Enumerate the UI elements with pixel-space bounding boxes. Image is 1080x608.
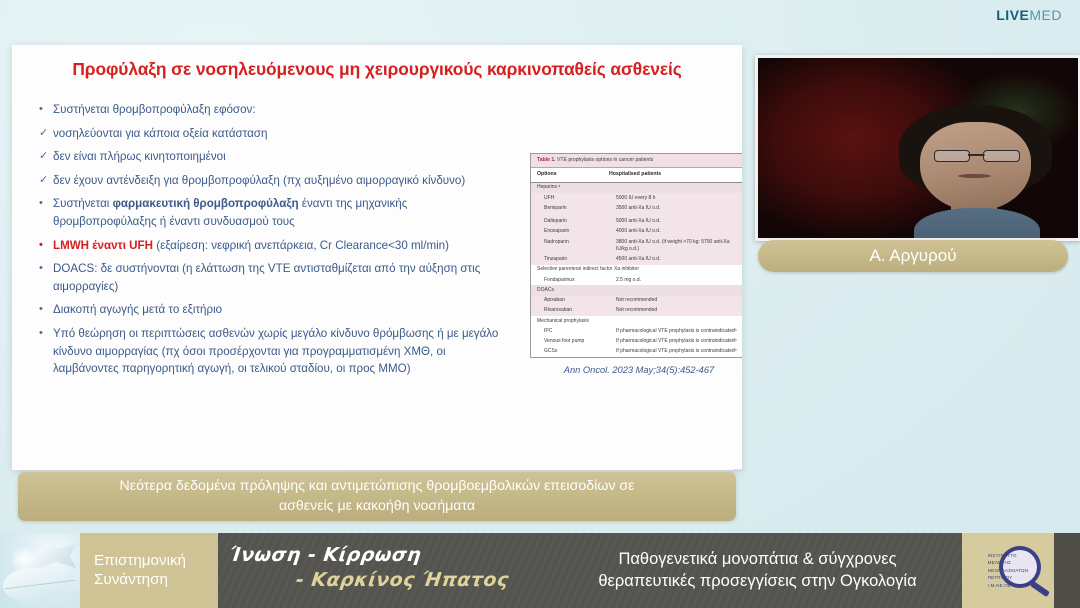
list-item-text: Συστήνεται φαρμακευτική θρομβοπροφύλαξη … (53, 195, 504, 230)
speaker-figure (899, 105, 1053, 241)
table-row: Bemiparin3500 anti-Xa IU o.d. (531, 203, 742, 213)
list-item-text: LMWH έναντι UFH (εξαίρεση: νεφρική ανεπά… (53, 237, 504, 255)
event-subject-line-1: Παθογενετικά μονοπάτια & σύγχρονες (618, 549, 896, 570)
imnepe-line-3: ΝΕΟΠΛΑΣΜΑΤΩΝ (988, 567, 1029, 575)
table-row: ApixabanNot recommended (531, 296, 742, 306)
table-cell-option: Dalteparin (537, 218, 616, 225)
table-section-row: DOACs (531, 285, 742, 295)
slide-bullet-list: • Συστήνεται θρομβοπροφύλαξη εφόσον: ✓ ν… (39, 101, 504, 384)
bullet-marker-icon: • (39, 301, 53, 319)
lecture-title-plate: Νεότερα δεδομένα πρόληψης και αντιμετώπι… (18, 472, 736, 521)
vte-prophylaxis-table-figure: Table 1. VTE prophylaxis options in canc… (530, 153, 742, 375)
imnepe-line-4: ΠΕΠΤΙΚΟΥ (988, 574, 1029, 582)
event-subject-line-2: θεραπευτικές προσεγγίσεις στην Ογκολογία (598, 571, 916, 592)
table-row: RivaroxabanNot recommended (531, 306, 742, 316)
table-row: GCSsIf pharmacological VTE prophylaxis i… (531, 347, 742, 357)
event-banner: Επιστημονική Συνάντηση Ίνωση - Κίρρωση -… (0, 533, 1080, 608)
livemed-logo: LIVEMED (996, 7, 1062, 23)
table-row: Enoxaparin4000 anti-Xa IU o.d. (531, 227, 742, 237)
event-type-label: Επιστημονική Συνάντηση (80, 533, 218, 608)
table-cell-value: Not recommended (616, 307, 741, 314)
bullet-marker-icon: • (39, 237, 53, 255)
imnepe-logo-text: ΙΝΣΤΙΤΟΥΤΟ ΜΕΛΕΤΗΣ ΝΕΟΠΛΑΣΜΑΤΩΝ ΠΕΠΤΙΚΟΥ… (988, 552, 1029, 590)
table-caption-text: VTE prophylaxis options in cancer patien… (557, 157, 653, 163)
list-item: ✓ δεν είναι πλήρως κινητοποιημένοι (39, 148, 504, 166)
table-section-row: Heparins ᵃ (531, 183, 742, 193)
list-item-text: Διακοπή αγωγής μετά το εξιτήριο (53, 301, 504, 319)
table-cell-option: Tinzaparin (537, 256, 616, 263)
torso-shape (914, 208, 1040, 241)
event-type-line-1: Επιστημονική (94, 552, 218, 571)
table-cell-option: Fondaparinux (537, 277, 616, 284)
list-item: • Υπό θεώρηση οι περιπτώσεις ασθενών χωρ… (39, 325, 504, 378)
magnifier-handle-icon (1030, 581, 1050, 597)
list-item-text: Συστήνεται θρομβοπροφύλαξη εφόσον: (53, 101, 504, 119)
emphasis-text: LMWH έναντι UFH (53, 239, 153, 252)
table-row: Nadroparin3800 anti-Xa IU o.d. (if weigh… (531, 237, 742, 255)
speaker-video-tile[interactable] (755, 55, 1080, 241)
list-item-text: Υπό θεώρηση οι περιπτώσεις ασθενών χωρίς… (53, 325, 504, 378)
handwritten-line-2: - Καρκίνος Ήπατος (295, 569, 511, 591)
check-marker-icon: ✓ (39, 172, 53, 190)
table-cell-value: 5000 anti-Xa IU o.d. (616, 218, 741, 225)
brand-med-text: MED (1029, 7, 1062, 23)
table-section-row: Selective parenteral indirect factor Xa … (531, 265, 742, 275)
column-header-options: Options (537, 171, 609, 179)
table-row: Venous foot pumpIf pharmacological VTE p… (531, 337, 742, 347)
list-item-text: δεν είναι πλήρως κινητοποιημένοι (53, 148, 504, 166)
table-caption: Table 1. VTE prophylaxis options in canc… (531, 154, 742, 168)
lecture-title-line-2: ασθενείς με κακοήθη νοσήματα (279, 497, 475, 516)
lecture-title-line-1: Νεότερα δεδομένα πρόληψης και αντιμετώπι… (120, 477, 635, 496)
table-cell-value: Not recommended (616, 297, 741, 304)
table-row: Tinzaparin4500 anti-Xa IU o.d. (531, 255, 742, 265)
table-cell-value: 4500 anti-Xa IU o.d. (616, 256, 741, 263)
list-item: ✓ δεν έχουν αντένδειξη για θρομβοπροφύλα… (39, 172, 504, 190)
table-cell-option: GCSs (537, 348, 616, 355)
list-item: • Συστήνεται φαρμακευτική θρομβοπροφύλαξ… (39, 195, 504, 230)
table-row: UFH5000 IU every 8 h (531, 193, 742, 203)
table-cell-value: If pharmacological VTE prophylaxis is co… (616, 328, 741, 335)
list-item-text: δεν έχουν αντένδειξη για θρομβοπροφύλαξη… (53, 172, 504, 190)
glasses-icon (934, 150, 1020, 161)
bullet-marker-icon: • (39, 325, 53, 378)
banner-end-cap (1054, 533, 1080, 608)
table-cell-option: Rivaroxaban (537, 307, 616, 314)
vte-prophylaxis-table: Table 1. VTE prophylaxis options in canc… (530, 153, 742, 358)
column-header-hospitalised: Hospitalised patients (609, 171, 741, 179)
imnepe-line-5: Ι.Μ.ΝΕ.ΠΕ (988, 582, 1029, 590)
table-source-citation: Ann Oncol. 2023 May;34(5):452-467 (530, 365, 742, 375)
table-cell-value: 3800 anti-Xa IU o.d. (if weight >70 kg: … (616, 239, 741, 254)
table-cell-value: 5000 IU every 8 h (616, 195, 741, 202)
event-type-line-2: Συνάντηση (94, 571, 218, 590)
table-row: Fondaparinux2.5 mg o.d. (531, 275, 742, 285)
brand-live-text: LIVE (996, 7, 1029, 23)
list-item: ✓ νοσηλεύονται για κάποια οξεία κατάστασ… (39, 125, 504, 143)
table-cell-option: Bemiparin (537, 205, 616, 212)
bullet-marker-icon: • (39, 260, 53, 295)
table-header-row: Options Hospitalised patients (531, 168, 742, 183)
face-shape (920, 122, 1031, 211)
table-cell-option: Nadroparin (537, 239, 616, 254)
list-item: • Διακοπή αγωγής μετά το εξιτήριο (39, 301, 504, 319)
esmo-tagline: GOOD SCIENCE BETTER MEDICINE BEST PRACTI… (734, 469, 742, 470)
table-row: Dalteparin5000 anti-Xa IU o.d. (531, 217, 742, 227)
glasses-right-lens (983, 150, 1020, 163)
table-cell-option: IPC (537, 328, 616, 335)
table-cell-value: If pharmacological VTE prophylaxis is co… (616, 348, 741, 355)
event-subject-title: Παθογενετικά μονοπάτια & σύγχρονες θεραπ… (553, 533, 962, 608)
table-body: Heparins ᵃUFH5000 IU every 8 hBemiparin3… (531, 183, 742, 357)
emphasis-text: φαρμακευτική θρομβοπροφύλαξη (113, 197, 299, 210)
table-cell-value: 2.5 mg o.d. (616, 277, 741, 284)
banner-artwork-image (0, 533, 80, 608)
bullet-marker-icon: • (39, 101, 53, 119)
table-cell-option: Apixaban (537, 297, 616, 304)
imnepe-line-2: ΜΕΛΕΤΗΣ (988, 559, 1029, 567)
table-cell-option: Enoxaparin (537, 228, 616, 235)
list-item-text: νοσηλεύονται για κάποια οξεία κατάσταση (53, 125, 504, 143)
event-handwritten-title: Ίνωση - Κίρρωση - Καρκίνος Ήπατος (218, 533, 553, 608)
table-cell-value: 4000 anti-Xa IU o.d. (616, 228, 741, 235)
list-item: • Συστήνεται θρομβοπροφύλαξη εφόσον: (39, 101, 504, 119)
list-item-text: DOACS: δε συστήνονται (η ελάττωση της VT… (53, 260, 504, 295)
speaker-name-plate: Α. Αργυρού (758, 240, 1068, 272)
table-row: IPCIf pharmacological VTE prophylaxis is… (531, 326, 742, 336)
bullet-marker-icon: • (39, 195, 53, 230)
table-caption-label: Table 1. (537, 157, 556, 163)
table-cell-value: 3500 anti-Xa IU o.d. (616, 205, 741, 212)
presentation-slide: Προφύλαξη σε νοσηλευόμενους μη χειρουργι… (12, 45, 742, 470)
list-item: • DOACS: δε συστήνονται (η ελάττωση της … (39, 260, 504, 295)
slide-title: Προφύλαξη σε νοσηλευόμενους μη χειρουργι… (12, 59, 742, 80)
esmo-tagline-line-1: GOOD SCIENCE (734, 469, 742, 470)
artwork-shape-3 (8, 548, 40, 571)
table-cell-option: UFH (537, 195, 616, 202)
table-cell-value: If pharmacological VTE prophylaxis is co… (616, 338, 741, 345)
speaker-name: Α. Αργυρού (869, 246, 956, 266)
imnepe-logo: ΙΝΣΤΙΤΟΥΤΟ ΜΕΛΕΤΗΣ ΝΕΟΠΛΑΣΜΑΤΩΝ ΠΕΠΤΙΚΟΥ… (962, 533, 1054, 608)
list-item: • LMWH έναντι UFH (εξαίρεση: νεφρική ανε… (39, 237, 504, 255)
imnepe-line-1: ΙΝΣΤΙΤΟΥΤΟ (988, 552, 1029, 560)
handwritten-line-1: Ίνωση - Κίρρωση (229, 544, 423, 566)
check-marker-icon: ✓ (39, 148, 53, 166)
esmo-logo: ESMO GOOD SCIENCE BETTER MEDICINE BEST P… (667, 469, 742, 470)
table-cell-option: Venous foot pump (537, 338, 616, 345)
glasses-left-lens (934, 150, 971, 163)
table-section-row: Mechanical prophylaxis (531, 316, 742, 326)
check-marker-icon: ✓ (39, 125, 53, 143)
mouth-shape (958, 174, 991, 178)
